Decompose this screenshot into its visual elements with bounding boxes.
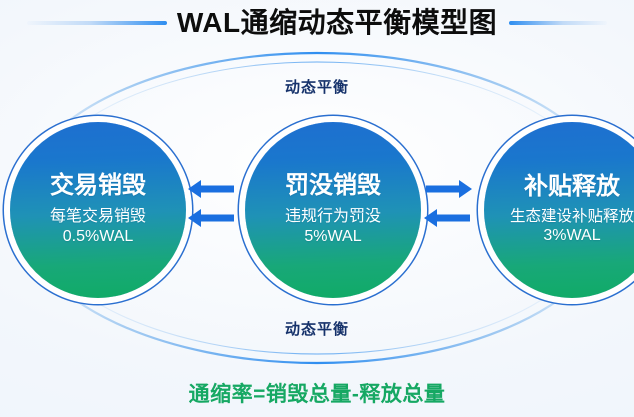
node-subtitle-line2: 3%WAL (543, 226, 600, 246)
node-subtitle-line1: 违规行为罚没 (285, 207, 381, 227)
arrow-left-icon (188, 209, 234, 227)
arrow-left-icon (424, 209, 470, 227)
balance-label-top: 动态平衡 (227, 76, 407, 97)
node-penalty-burn[interactable]: 罚没销毁 违规行为罚没 5%WAL (245, 122, 421, 298)
balance-label-bottom: 动态平衡 (227, 318, 407, 339)
deflation-formula: 通缩率=销毁总量-释放总量 (0, 378, 634, 408)
node-subtitle-line1: 每笔交易销毁 (50, 207, 146, 227)
title-row: WAL通缩动态平衡模型图 (0, 2, 634, 44)
node-subsidy-release[interactable]: 补贴释放 生态建设补贴释放 3%WAL (484, 122, 634, 298)
arrow-group-center-to-left (188, 179, 236, 231)
node-title: 交易销毁 (50, 173, 146, 199)
arrow-group-center-to-right (424, 179, 472, 231)
node-subtitle-line2: 0.5%WAL (63, 227, 134, 247)
arrow-left-icon (188, 180, 234, 198)
arrow-right-icon (426, 180, 472, 198)
diagram-canvas: WAL通缩动态平衡模型图 动态平衡 动态平衡 交易销毁 (0, 0, 634, 417)
node-title: 罚没销毁 (285, 173, 381, 199)
title-rule-left-decoration (27, 21, 167, 25)
page-title: WAL通缩动态平衡模型图 (177, 9, 497, 37)
node-subtitle-line2: 5%WAL (304, 227, 361, 247)
node-subtitle-line1: 生态建设补贴释放 (510, 207, 634, 226)
title-rule-right-decoration (509, 21, 607, 25)
node-transaction-burn[interactable]: 交易销毁 每笔交易销毁 0.5%WAL (10, 122, 186, 298)
node-title: 补贴释放 (524, 174, 620, 200)
